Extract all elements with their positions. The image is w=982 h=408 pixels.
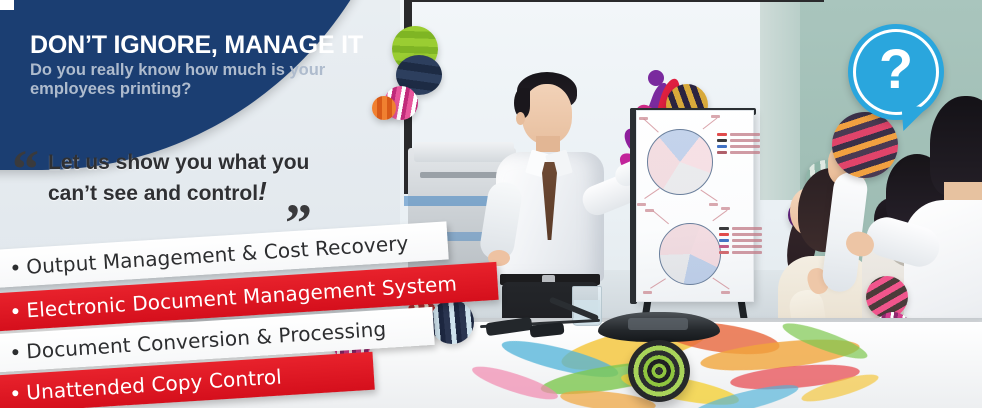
conference-phone-keypad [628,318,688,330]
quote-open-mark: “ [12,142,39,196]
pie-chart-top-legend [717,133,760,157]
bullet-dot-icon [12,349,18,355]
screen-frame-top [404,0,824,2]
corner-notch [0,0,14,10]
flipchart-board [636,110,754,302]
page-subtitle: Do you really know how much is your empl… [30,61,380,98]
presenter-ear [516,112,525,125]
service-list: Output Management & Cost Recovery Electr… [0,236,560,408]
pie-chart-bottom-legend [719,227,762,257]
page-title: DON’T IGNORE, MANAGE IT [30,32,430,58]
decor-ball-large-striped [832,112,898,178]
quote-exclamation: ! [258,176,267,206]
quote-close-mark: ” [285,196,312,250]
list-item-label: Unattended Copy Control [26,364,283,404]
pie-chart-top [647,129,713,195]
bullet-dot-icon [12,264,18,270]
pie-chart-bottom [659,223,721,285]
decor-target-ball [628,340,690,402]
quote-line-2: can’t see and control [48,182,258,205]
question-mark-bubble[interactable]: ? [848,24,944,120]
bullet-dot-icon [12,390,18,396]
question-mark-icon: ? [848,24,944,120]
bullet-dot-icon [12,308,18,314]
marketing-banner: DON’T IGNORE, MANAGE IT Do you really kn… [0,0,982,408]
quote-line-1: Let us show you what you [48,151,309,174]
decor-ball-orange [372,96,396,120]
headline-block: DON’T IGNORE, MANAGE IT Do you really kn… [30,32,430,98]
